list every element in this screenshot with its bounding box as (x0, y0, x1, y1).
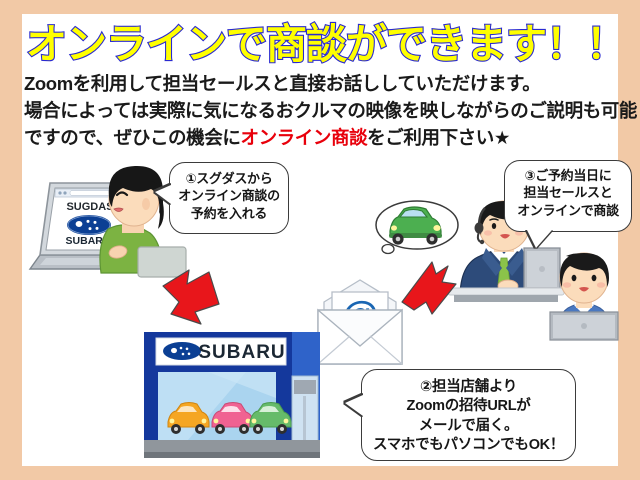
bubble-step-2-line-2: Zoomの招待URLが (369, 397, 568, 416)
bubble-step-2-line-4: スマホでもパソコンでもOK！ (369, 436, 568, 455)
bubble-step-2: ②担当店舗より Zoomの招待URLが メールで届く。 スマホでもパソコンでもO… (361, 369, 576, 461)
bubble-step-3-line-1: ③ご予約当日に (512, 167, 624, 184)
poster-canvas: オンラインで商談ができます！！ Zoomを利用して担当セールスと直接お話ししてい… (22, 14, 618, 466)
bubble-step-3-line-3: オンラインで商談 (512, 202, 624, 219)
body-line-3-pre: ですので、ぜひこの機会に (24, 127, 240, 148)
bubble-step-1: ①スグダスから オンライン商談の 予約を入れる (169, 162, 289, 234)
bubble-step-1-line-2: オンライン商談の (177, 187, 281, 204)
illustration-customer-meeting (544, 242, 624, 342)
laptop-site-name: SUGDAS (66, 201, 113, 213)
bubble-step-1-line-3: 予約を入れる (177, 205, 281, 222)
bubble-step-2-line-1: ②担当店舗より (369, 378, 568, 397)
body-line-3-post: をご利用下さい★ (367, 127, 510, 148)
body-line-3: ですので、ぜひこの機会にオンライン商談をご利用下さい★ (24, 124, 510, 150)
bubble-step-3: ③ご予約当日に 担当セールスと オンラインで商談 (504, 160, 632, 232)
bubble-step-3-line-2: 担当セールスと (512, 184, 624, 201)
bubble-step-1-tail (155, 185, 171, 204)
illustration-customer-booking: SUGDAS SUBARU (26, 159, 176, 284)
bubble-step-2-line-3: メールで届く。 (369, 417, 568, 436)
body-line-3-highlight: オンライン商談 (240, 127, 367, 148)
body-line-2: 場合によっては実際に気になるおクルマの映像を映しながらのご説明も可能 (24, 97, 637, 123)
bubble-step-2-tail (345, 395, 363, 416)
bubble-step-1-line-1: ①スグダスから (177, 170, 281, 187)
page-title: オンラインで商談ができます！！ (26, 20, 618, 68)
dealership-sign-text: SUBARU (198, 342, 285, 363)
body-line-1: Zoomを利用して担当セールスと直接お話ししていただけます。 (24, 70, 540, 96)
illustration-dealership: SUBARU (136, 326, 328, 466)
arrow-step-1-to-2 (157, 264, 229, 330)
